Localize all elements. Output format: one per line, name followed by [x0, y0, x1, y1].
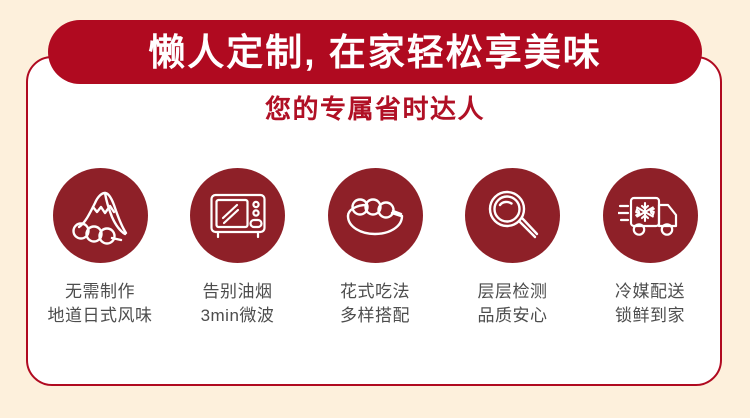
feature-label: 花式吃法 多样搭配	[340, 280, 410, 328]
feature-label-line2: 地道日式风味	[48, 304, 153, 328]
promo-banner: 懒人定制, 在家轻松享美味 您的专属省时达人	[0, 0, 750, 418]
mount-fuji-dango-icon	[69, 187, 131, 245]
cold-chain-truck-icon	[618, 191, 682, 241]
feature-item-inspection: 层层检测 品质安心	[449, 168, 577, 328]
feature-item-varied-eating: 花式吃法 多样搭配	[311, 168, 439, 328]
feature-label-line2: 锁鲜到家	[615, 304, 685, 328]
feature-item-no-cooking: 无需制作 地道日式风味	[36, 168, 164, 328]
feature-label-line1: 冷媒配送	[615, 280, 685, 304]
feature-label-line1: 无需制作	[48, 280, 153, 304]
feature-icon-circle	[465, 168, 560, 263]
feature-label: 层层检测 品质安心	[478, 280, 548, 328]
feature-label-line1: 告别油烟	[201, 280, 275, 304]
feature-label: 告别油烟 3min微波	[201, 280, 275, 328]
feature-label: 无需制作 地道日式风味	[48, 280, 153, 328]
feature-item-microwave: 告别油烟 3min微波	[174, 168, 302, 328]
feature-icon-circle	[53, 168, 148, 263]
feature-label-line1: 层层检测	[478, 280, 548, 304]
feature-icon-circle	[603, 168, 698, 263]
magnifier-icon	[486, 189, 540, 243]
feature-icon-circle	[328, 168, 423, 263]
dango-plate-icon	[344, 192, 406, 240]
feature-label-line2: 多样搭配	[340, 304, 410, 328]
feature-icon-circle	[190, 168, 285, 263]
feature-label-line2: 3min微波	[201, 304, 275, 328]
feature-label-line2: 品质安心	[478, 304, 548, 328]
feature-label-line1: 花式吃法	[340, 280, 410, 304]
page-subtitle: 您的专属省时达人	[0, 96, 750, 122]
feature-item-cold-delivery: 冷媒配送 锁鲜到家	[586, 168, 714, 328]
page-title: 懒人定制, 在家轻松享美味	[148, 34, 602, 71]
feature-list: 无需制作 地道日式风味	[36, 168, 714, 328]
title-pill: 懒人定制, 在家轻松享美味	[48, 20, 702, 84]
feature-label: 冷媒配送 锁鲜到家	[615, 280, 685, 328]
microwave-icon	[209, 190, 267, 242]
